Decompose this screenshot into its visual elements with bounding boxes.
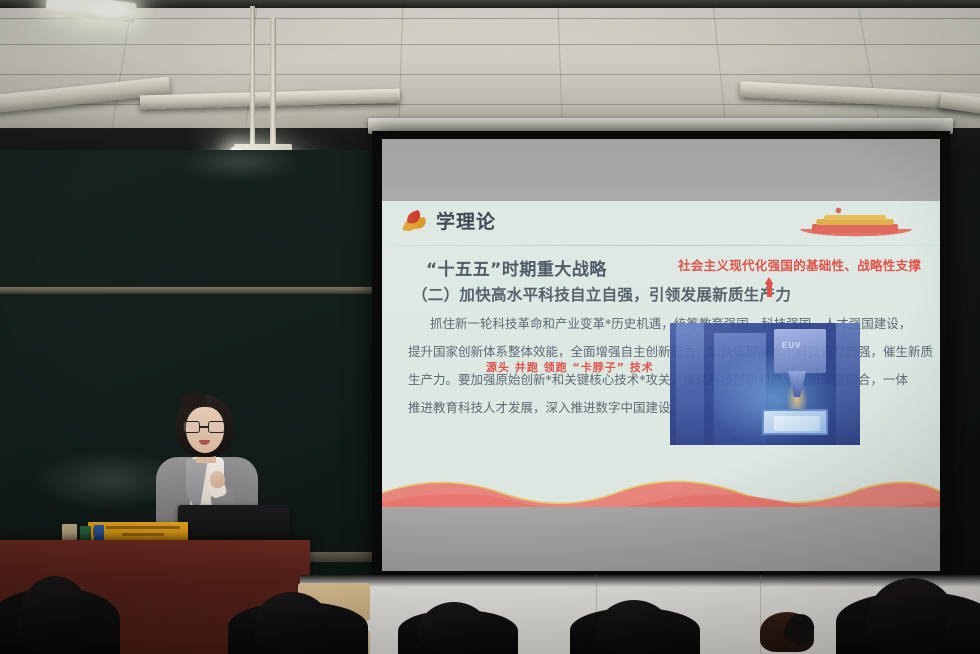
projection-screen: 学理论 “十五五”时期重大战略 （二）加快高水平科技自立自强，引领发展新质生产力… [372, 131, 950, 583]
projector-letterbox-bottom [382, 507, 940, 571]
header-divider [382, 245, 940, 246]
party-emblem-icon [402, 211, 428, 233]
desk-item-box-beige [62, 524, 77, 541]
slide-wave-decoration [382, 477, 940, 511]
slide-strategy-heading: “十五五”时期重大战略 [426, 255, 607, 280]
slide-red-annotation: 源头 并跑 领跑 “卡脖子” 技术 [486, 359, 654, 375]
classroom-photo-scene: 学理论 “十五五”时期重大战略 （二）加快高水平科技自立自强，引领发展新质生产力… [0, 0, 980, 654]
slide-header-title: 学理论 [436, 207, 496, 234]
tiananmen-icon [790, 207, 922, 241]
up-arrow-icon [764, 277, 775, 297]
presentation-slide: 学理论 “十五五”时期重大战略 （二）加快高水平科技自立自强，引领发展新质生产力… [382, 201, 940, 511]
slide-callout-text: 社会主义现代化强国的基础性、战略性支撑 [678, 255, 921, 274]
slide-body-line-4: 推进教育科技人才发展，深入推进数字中国建设 [408, 397, 671, 416]
desk-item-box-green [80, 526, 91, 541]
blackboard-rail [0, 287, 390, 294]
slide-section-heading: （二）加快高水平科技自立自强，引领发展新质生产力 [412, 283, 791, 305]
screen-bottom-shadow [300, 575, 980, 587]
slide-body: “十五五”时期重大战略 （二）加快高水平科技自立自强，引领发展新质生产力 社会主… [382, 249, 940, 469]
eyeglasses-icon [183, 421, 227, 433]
slide-header: 学理论 [382, 201, 940, 245]
semiconductor-lithography-photo: EUV [670, 323, 860, 445]
euv-label: EUV [782, 341, 801, 350]
projector-letterbox-top [382, 139, 940, 201]
desk-item-box-blue [94, 525, 104, 541]
